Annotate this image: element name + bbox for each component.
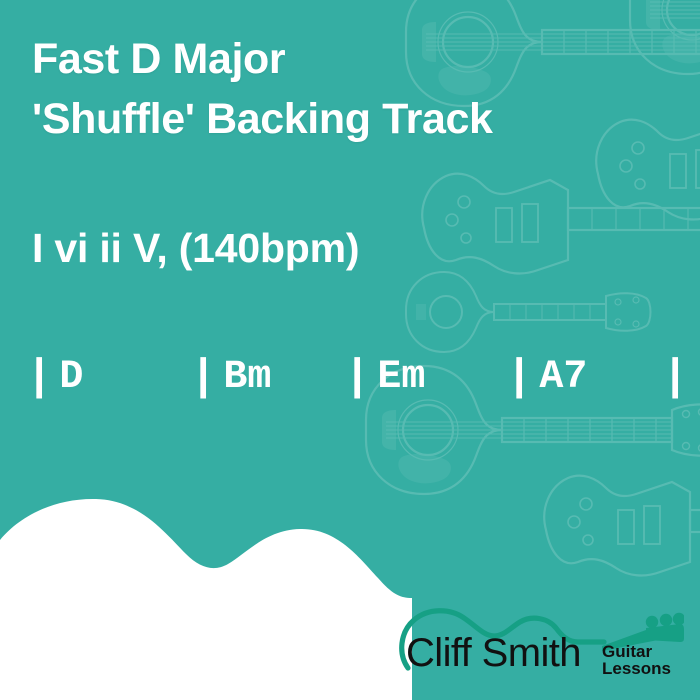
bar-line-glyph: | xyxy=(506,352,532,404)
logo-brand-name: Cliff Smith xyxy=(406,631,581,675)
bar-line-glyph: | xyxy=(26,352,52,404)
chord-bar-2: | Bm xyxy=(190,352,271,404)
chord-bar-end: | xyxy=(662,352,688,404)
bar-line-glyph: | xyxy=(344,352,370,404)
progression-subtitle: I vi ii V, (140bpm) xyxy=(32,228,359,269)
chord-bar-1: | D xyxy=(26,352,83,404)
backing-track-card: Fast D Major 'Shuffle' Backing Track I v… xyxy=(0,0,700,700)
chord-bar-4: | A7 xyxy=(506,352,587,404)
chord-bar-3: | Em xyxy=(344,352,425,404)
chord-symbol-d: D xyxy=(59,352,83,404)
chord-symbol-bm: Bm xyxy=(223,352,271,404)
cliff-smith-guitar-lessons-logo[interactable]: Cliff Smith Guitar Lessons xyxy=(396,604,684,678)
bar-line-glyph: | xyxy=(662,352,688,404)
page-title-line-2: 'Shuffle' Backing Track xyxy=(32,98,493,141)
logo-tagline-line-2: Lessons xyxy=(602,659,671,678)
chord-symbol-a7: A7 xyxy=(539,352,587,404)
bar-line-glyph: | xyxy=(190,352,216,404)
page-title-line-1: Fast D Major xyxy=(32,38,285,81)
chord-progression-row: | D | Bm | Em | A7 | xyxy=(22,352,682,404)
chord-symbol-em: Em xyxy=(377,352,425,404)
